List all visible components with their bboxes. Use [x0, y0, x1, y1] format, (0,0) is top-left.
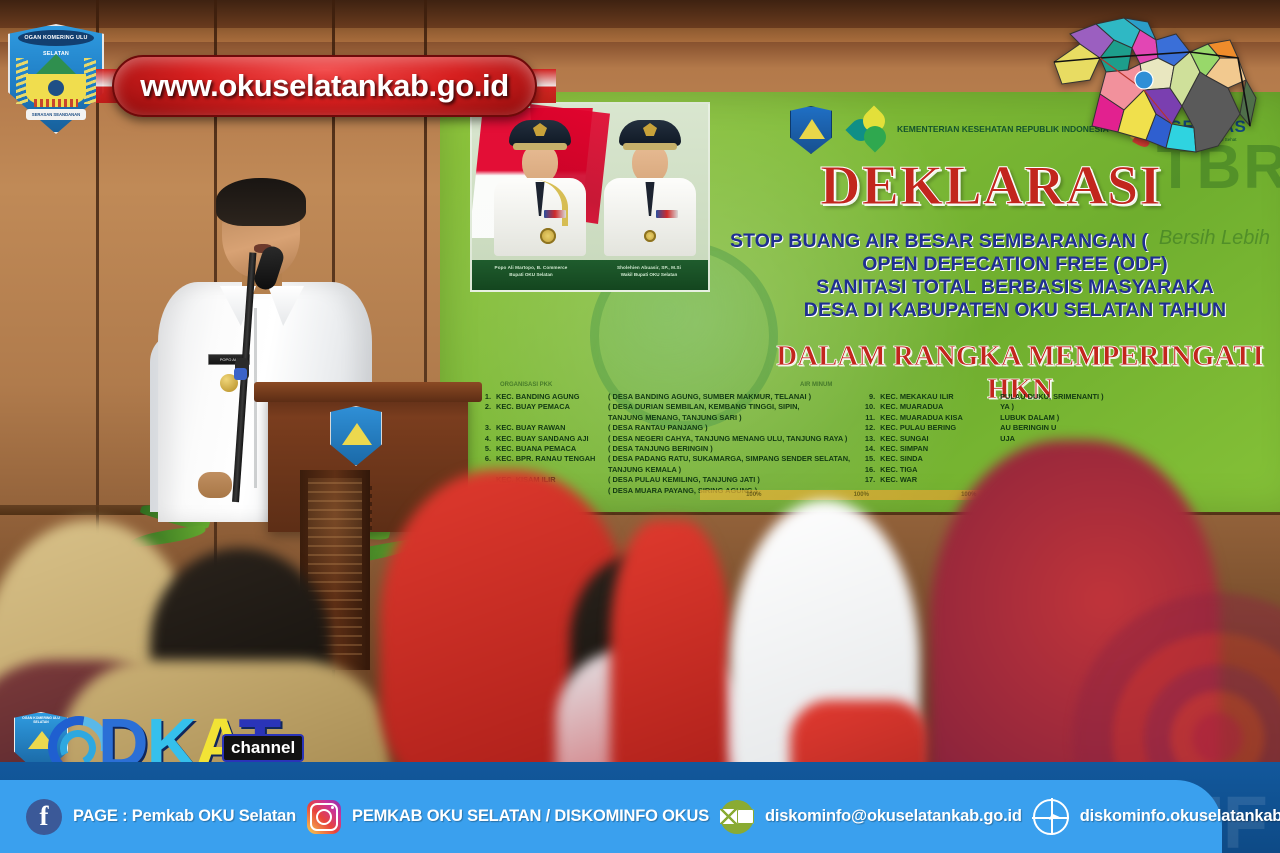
district-name: KEC. SUNGAI — [880, 434, 1000, 444]
uniform — [604, 178, 696, 256]
website-label: diskominfo.okuselatankab.go.id — [1080, 807, 1280, 826]
crest-rail — [34, 99, 78, 107]
district-name: KEC. PULAU BERING — [880, 423, 1000, 433]
district-row: 4.KEC. BUAY SANDANG AJI( DESA NEGERI CAH… — [480, 434, 850, 444]
district-villages: AU BERINGIN U — [1000, 423, 1103, 433]
ceremonial-cap-icon — [619, 120, 681, 146]
podium-crest-icon — [330, 406, 382, 466]
district-row: TANJUNG MENANG, TANJUNG SARI ) — [480, 413, 850, 423]
district-number: 3. — [480, 423, 496, 433]
district-villages: YA ) — [1000, 402, 1103, 412]
medal-star-icon — [540, 228, 556, 244]
district-row: 9.KEC. MEKAKAU ILIRPULAU DUKU, SRIMENANT… — [864, 392, 1103, 402]
subheadline-line: STOP BUANG AIR BESAR SEMBARANGAN ( — [730, 230, 1280, 253]
district-number: 11. — [864, 413, 880, 423]
footer-social-row: f PAGE : Pemkab OKU Selatan PEMKAB OKU S… — [0, 780, 1280, 853]
district-map-icon — [1040, 14, 1272, 166]
district-number: 1. — [480, 392, 496, 402]
district-name — [496, 413, 608, 423]
district-name: KEC. BANDING AGUNG — [496, 392, 608, 402]
district-number: 13. — [864, 434, 880, 444]
district-number: 6. — [480, 454, 496, 464]
district-number: 5. — [480, 444, 496, 454]
district-row: 5.KEC. BUANA PEMACA( DESA TANJUNG BERING… — [480, 444, 850, 454]
district-villages: PULAU DUKU, SRIMENANTI ) — [1000, 392, 1103, 402]
podium-top — [254, 382, 482, 402]
email-label: diskominfo@okuselatankab.go.id — [765, 807, 1022, 826]
instagram-label: PEMKAB OKU SELATAN / DISKOMINFO OKUS — [352, 807, 709, 826]
website-pill[interactable]: www.okuselatankab.go.id — [112, 55, 537, 117]
okus-regency-crest: OGAN KOMERING ULU SELATAN SERASAN SEANDA… — [8, 24, 104, 134]
district-villages: TANJUNG MENANG, TANJUNG SARI ) — [608, 413, 850, 423]
district-villages: ( DESA NEGERI CAHYA, TANJUNG MENANG ULU,… — [608, 434, 850, 444]
caption-bupati: Popo Ali Martopo, B. Commerce Bupati OKU… — [472, 260, 590, 290]
district-name: KEC. BUAY SANDANG AJI — [496, 434, 608, 444]
district-row: 2.KEC. BUAY PEMACA( DESA DURIAN SEMBILAN… — [480, 402, 850, 412]
ceremonial-cap-icon — [509, 120, 571, 146]
district-row: 1.KEC. BANDING AGUNG( DESA BANDING AGUNG… — [480, 392, 850, 402]
district-villages: LUBUK DALAM ) — [1000, 413, 1103, 423]
subheadline-line: OPEN DEFECATION FREE (ODF) — [730, 253, 1280, 276]
subheadline-line: DESA DI KABUPATEN OKU SELATAN TAHUN — [730, 299, 1280, 322]
district-number: 12. — [864, 423, 880, 433]
globe-cursor-icon[interactable] — [1033, 799, 1069, 835]
uniform — [494, 178, 586, 256]
portrait-bupati — [488, 120, 592, 256]
district-villages: ( DESA PADANG RATU, SUKAMARGA, SIMPANG S… — [608, 454, 850, 464]
crest-ring: OGAN KOMERING ULU SELATAN — [18, 30, 94, 46]
district-row: 10.KEC. MUARADUAYA ) — [864, 402, 1103, 412]
facebook-label: PAGE : Pemkab OKU Selatan — [73, 807, 296, 826]
district-villages: ( DESA DURIAN SEMBILAN, KEMBANG TINGGI, … — [608, 402, 850, 412]
district-map-overlay — [1040, 14, 1272, 166]
district-number: 10. — [864, 402, 880, 412]
subheadline-line: SANITASI TOTAL BERBASIS MASYARAKA — [730, 276, 1280, 299]
medal-star-icon — [644, 230, 656, 242]
okus-crest-icon — [790, 106, 832, 154]
crest-ribbon: SERASAN SEANDANAN — [26, 109, 86, 120]
district-villages: TANJUNG KEMALA ) — [608, 465, 850, 475]
facebook-icon[interactable]: f — [26, 799, 62, 835]
kemenkes-logo-icon — [850, 110, 890, 150]
district-villages: ( DESA RANTAU PANJANG ) — [608, 423, 850, 433]
district-name: KEC. BUAY RAWAN — [496, 423, 608, 433]
website-banner[interactable]: www.okuselatankab.go.id — [112, 55, 537, 117]
speaker-hair — [216, 178, 306, 226]
district-name: KEC. MUARADUA — [880, 402, 1000, 412]
medal-ribbon — [656, 210, 678, 218]
list-headers: ORGANISASI PKK AIR MINUM — [500, 382, 1260, 388]
officials-portrait-panel: Popo Ali Martopo, B. Commerce Bupati OKU… — [470, 102, 710, 292]
medal-ribbon — [544, 210, 566, 218]
microphone-clip — [234, 368, 247, 380]
district-name: KEC. MUARADUA KISA — [880, 413, 1000, 423]
speaker-hand — [198, 472, 232, 498]
district-row: 12.KEC. PULAU BERINGAU BERINGIN U — [864, 423, 1103, 433]
district-number: 14. — [864, 444, 880, 454]
district-row: 11.KEC. MUARADUA KISALUBUK DALAM ) — [864, 413, 1103, 423]
district-name: KEC. BUANA PEMACA — [496, 444, 608, 454]
district-row: 3.KEC. BUAY RAWAN( DESA RANTAU PANJANG ) — [480, 423, 850, 433]
banner-subheadlines: STOP BUANG AIR BESAR SEMBARANGAN ( OPEN … — [730, 230, 1280, 322]
district-number: 17. — [864, 475, 880, 485]
district-villages: ( DESA TANJUNG BERINGIN ) — [608, 444, 850, 454]
district-row: 6.KEC. BPR. RANAU TENGAH( DESA PADANG RA… — [480, 454, 850, 464]
website-url-text: www.okuselatankab.go.id — [140, 68, 509, 104]
portrait-captions: Popo Ali Martopo, B. Commerce Bupati OKU… — [472, 260, 708, 290]
district-villages: ( DESA PULAU KEMILING, TANJUNG JATI ) — [608, 475, 850, 485]
district-number: 15. — [864, 454, 880, 464]
district-name: KEC. BPR. RANAU TENGAH — [496, 454, 608, 464]
district-name: KEC. MEKAKAU ILIR — [880, 392, 1000, 402]
district-number: 16. — [864, 465, 880, 475]
portrait-wakil-bupati — [598, 120, 702, 256]
dkat-channel-badge: channel — [224, 736, 302, 760]
necktie — [646, 182, 655, 216]
email-icon[interactable] — [720, 800, 754, 834]
caption-wakil-bupati: Sholehien Abuasir, SP., M.Si Wakil Bupat… — [590, 260, 708, 290]
district-number — [480, 413, 496, 423]
district-number: 2. — [480, 402, 496, 412]
screenshot-root: TBR Bersih Lebih — [0, 0, 1280, 853]
district-number: 9. — [864, 392, 880, 402]
district-name: KEC. BUAY PEMACA — [496, 402, 608, 412]
district-number: 4. — [480, 434, 496, 444]
sash — [512, 180, 568, 226]
district-villages: ( DESA BANDING AGUNG, SUMBER MAKMUR, TEL… — [608, 392, 850, 402]
instagram-icon[interactable] — [307, 800, 341, 834]
